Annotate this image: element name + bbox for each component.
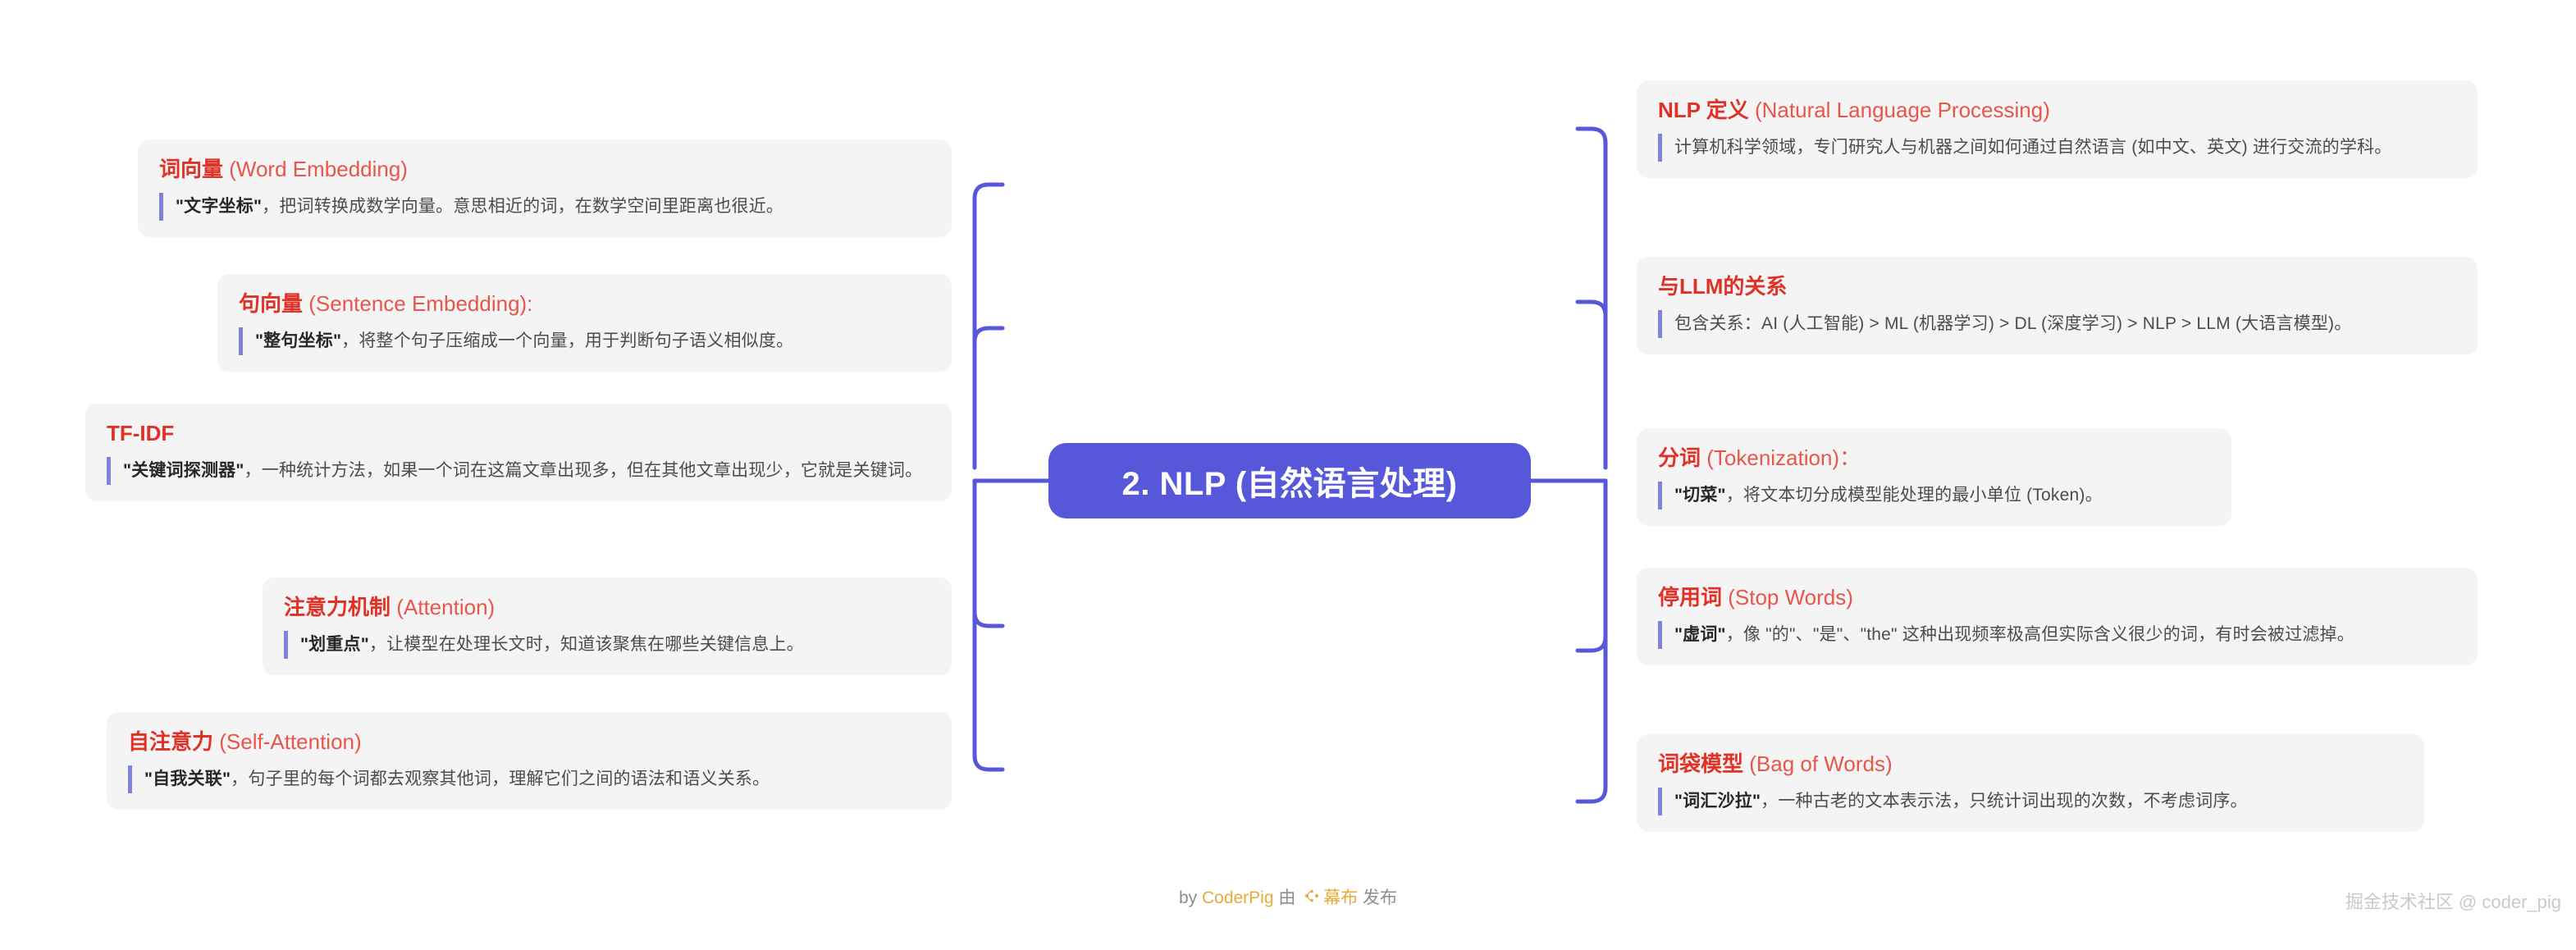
card-title-en: (Sentence Embedding): [303, 291, 532, 316]
card-body-rest: ，让模型在处理长文时，知道该聚焦在哪些关键信息上。 [369, 635, 804, 654]
card-body-lead: "关键词探测器" [123, 461, 244, 480]
card-body: 计算机科学领域，专门研究人与机器之间如何通过自然语言 (如中文、英文) 进行交流… [1658, 134, 2456, 162]
card-sentence-embedding[interactable]: 句向量 (Sentence Embedding): "整句坐标"，将整个句子压缩… [217, 274, 952, 372]
card-title: 停用词 (Stop Words) [1658, 584, 2456, 612]
card-title-cn: NLP 定义 [1658, 98, 1749, 122]
card-title-cn: 与LLM的关系 [1658, 274, 1787, 299]
card-title-cn: 自注意力 [128, 729, 213, 754]
card-title-cn: 停用词 [1658, 585, 1722, 610]
card-body-lead: "文字坐标" [176, 197, 262, 216]
card-body: 包含关系：AI (人工智能) > ML (机器学习) > DL (深度学习) >… [1658, 310, 2456, 338]
card-llm-relation[interactable]: 与LLM的关系 包含关系：AI (人工智能) > ML (机器学习) > DL … [1637, 257, 2478, 354]
center-node-label: 2. NLP (自然语言处理) [1121, 457, 1457, 505]
card-body: "划重点"，让模型在处理长文时，知道该聚焦在哪些关键信息上。 [284, 631, 930, 659]
footer-product[interactable]: 幕布 [1323, 888, 1358, 907]
card-bag-of-words[interactable]: 词袋模型 (Bag of Words) "词汇沙拉"，一种古老的文本表示法，只统… [1637, 734, 2424, 832]
card-title: 句向量 (Sentence Embedding): [239, 290, 930, 318]
card-title-cn: 词袋模型 [1658, 751, 1743, 776]
card-attention[interactable]: 注意力机制 (Attention) "划重点"，让模型在处理长文时，知道该聚焦在… [263, 578, 952, 675]
card-title-cn: TF-IDF [107, 421, 174, 445]
footer-prefix: by [1179, 888, 1202, 907]
card-body-rest: 包含关系：AI (人工智能) > ML (机器学习) > DL (深度学习) >… [1674, 314, 2351, 333]
card-body-lead: "划重点" [300, 635, 369, 654]
card-title-en: (Self-Attention) [213, 729, 362, 754]
card-title-cn: 句向量 [239, 291, 303, 316]
card-body-rest: ，将文本切分成模型能处理的最小单位 (Token)。 [1726, 486, 2103, 505]
card-title-en: (Attention) [391, 595, 495, 619]
card-body: "文字坐标"，把词转换成数学向量。意思相近的词，在数学空间里距离也很近。 [159, 193, 930, 221]
card-body: "自我关联"，句子里的每个词都去观察其他词，理解它们之间的语法和语义关系。 [128, 765, 930, 793]
card-title-en: (Word Embedding) [223, 157, 408, 181]
card-body: "词汇沙拉"，一种古老的文本表示法，只统计词出现的次数，不考虑词序。 [1658, 788, 2403, 815]
card-body: "虚词"，像 "的"、"是"、"the" 这种出现频率极高但实际含义很少的词，有… [1658, 621, 2456, 649]
card-body-lead: "切菜" [1674, 486, 1726, 505]
mindmap-canvas: 2. NLP (自然语言处理) 词向量 (Word Embedding) "文字… [0, 0, 2576, 950]
card-title: 自注意力 (Self-Attention) [128, 728, 930, 756]
card-title-en: (Bag of Words) [1743, 751, 1893, 776]
card-body-lead: "虚词" [1674, 625, 1726, 644]
card-title: TF-IDF [107, 420, 930, 448]
card-body-rest: ，把词转换成数学向量。意思相近的词，在数学空间里距离也很近。 [262, 197, 783, 216]
card-title-cn: 注意力机制 [284, 595, 391, 619]
card-body-lead: "整句坐标" [255, 331, 341, 350]
card-self-attention[interactable]: 自注意力 (Self-Attention) "自我关联"，句子里的每个词都去观察… [107, 712, 952, 810]
card-title: 词袋模型 (Bag of Words) [1658, 751, 2403, 779]
card-title: 分词 (Tokenization)： [1658, 445, 2210, 473]
card-body-lead: "词汇沙拉" [1674, 792, 1761, 811]
card-body-rest: ，将整个句子压缩成一个向量，用于判断句子语义相似度。 [341, 331, 793, 350]
card-body-rest: 计算机科学领域，专门研究人与机器之间如何通过自然语言 (如中文、英文) 进行交流… [1674, 138, 2391, 157]
footer-credit: by CoderPig 由 幕布 发布 [0, 884, 2576, 910]
card-title-en: (Natural Language Processing) [1749, 98, 2050, 122]
card-title: 与LLM的关系 [1658, 273, 2456, 301]
card-title: 词向量 (Word Embedding) [159, 156, 930, 184]
card-title: 注意力机制 (Attention) [284, 594, 930, 622]
card-title-en: (Stop Words) [1722, 585, 1853, 610]
card-body-rest: ，像 "的"、"是"、"the" 这种出现频率极高但实际含义很少的词，有时会被过… [1726, 625, 2354, 644]
card-word-embedding[interactable]: 词向量 (Word Embedding) "文字坐标"，把词转换成数学向量。意思… [138, 139, 952, 237]
card-title-cn: 词向量 [159, 157, 223, 181]
card-stop-words[interactable]: 停用词 (Stop Words) "虚词"，像 "的"、"是"、"the" 这种… [1637, 568, 2478, 665]
card-body-rest: ，一种古老的文本表示法，只统计词出现的次数，不考虑词序。 [1761, 792, 2248, 811]
center-node[interactable]: 2. NLP (自然语言处理) [1048, 443, 1531, 518]
footer-author[interactable]: CoderPig [1202, 888, 1274, 907]
card-body: "切菜"，将文本切分成模型能处理的最小单位 (Token)。 [1658, 482, 2210, 509]
card-body-lead: "自我关联" [144, 770, 231, 788]
card-title: NLP 定义 (Natural Language Processing) [1658, 97, 2456, 125]
footer-suffix: 发布 [1358, 888, 1397, 907]
card-title-en: (Tokenization)： [1701, 445, 1861, 470]
mubu-logo-icon [1303, 887, 1321, 910]
card-body: "关键词探测器"，一种统计方法，如果一个词在这篇文章出现多，但在其他文章出现少，… [107, 457, 930, 485]
card-body-rest: ，一种统计方法，如果一个词在这篇文章出现多，但在其他文章出现少，它就是关键词。 [244, 461, 923, 480]
card-body-rest: ，句子里的每个词都去观察其他词，理解它们之间的语法和语义关系。 [231, 770, 770, 788]
watermark: 掘金技术社区 @ coder_pig [2345, 888, 2561, 914]
card-title-cn: 分词 [1658, 445, 1701, 470]
card-nlp-definition[interactable]: NLP 定义 (Natural Language Processing) 计算机… [1637, 80, 2478, 178]
footer-middle: 由 [1274, 888, 1301, 907]
card-body: "整句坐标"，将整个句子压缩成一个向量，用于判断句子语义相似度。 [239, 327, 930, 355]
card-tokenization[interactable]: 分词 (Tokenization)： "切菜"，将文本切分成模型能处理的最小单位… [1637, 428, 2231, 526]
card-tf-idf[interactable]: TF-IDF "关键词探测器"，一种统计方法，如果一个词在这篇文章出现多，但在其… [85, 404, 952, 501]
